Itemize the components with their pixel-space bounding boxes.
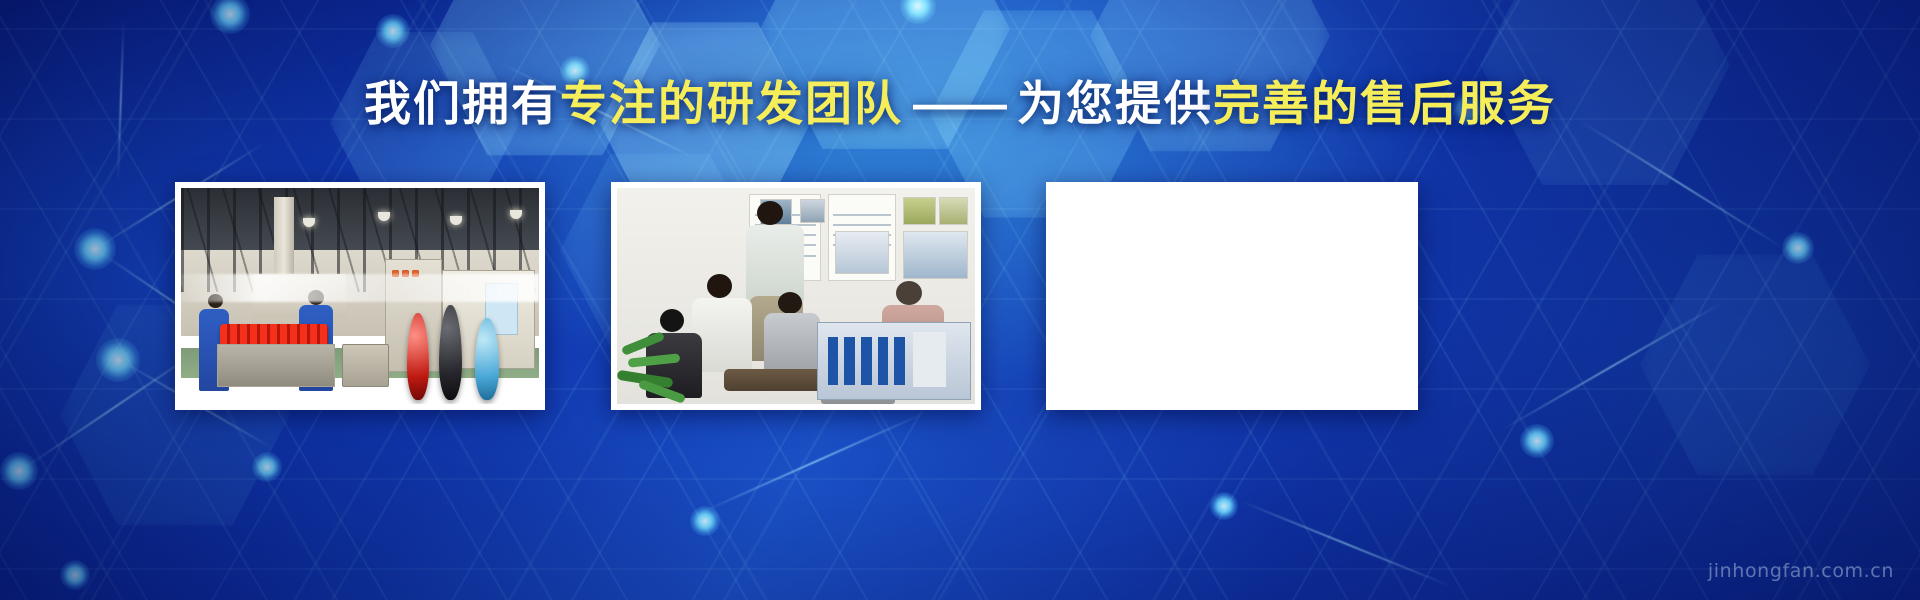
page-title: 我们拥有专注的研发团队——为您提供完善的售后服务 bbox=[0, 78, 1920, 130]
photo-panel-equipment-collage[interactable] bbox=[1046, 182, 1418, 410]
headline-dash: —— bbox=[903, 77, 1017, 130]
headline-segment-1: 我们拥有 bbox=[364, 77, 560, 130]
production-line-photo bbox=[181, 188, 539, 404]
team-meeting-photo bbox=[617, 188, 975, 404]
photo-panel-team-meeting[interactable] bbox=[611, 182, 981, 410]
equipment-collage-photo bbox=[1052, 188, 1412, 404]
photo-panel-group bbox=[0, 182, 1920, 414]
headline-segment-3: 为您提供 bbox=[1017, 77, 1213, 130]
photo-panel-production-line[interactable] bbox=[175, 182, 545, 410]
headline-segment-2: 专注的研发团队 bbox=[560, 77, 903, 130]
promotional-banner: 我们拥有专注的研发团队——为您提供完善的售后服务 bbox=[0, 0, 1920, 600]
headline-segment-4: 完善的售后服务 bbox=[1213, 77, 1556, 130]
site-watermark: jinhongfan.com.cn bbox=[1708, 560, 1894, 582]
